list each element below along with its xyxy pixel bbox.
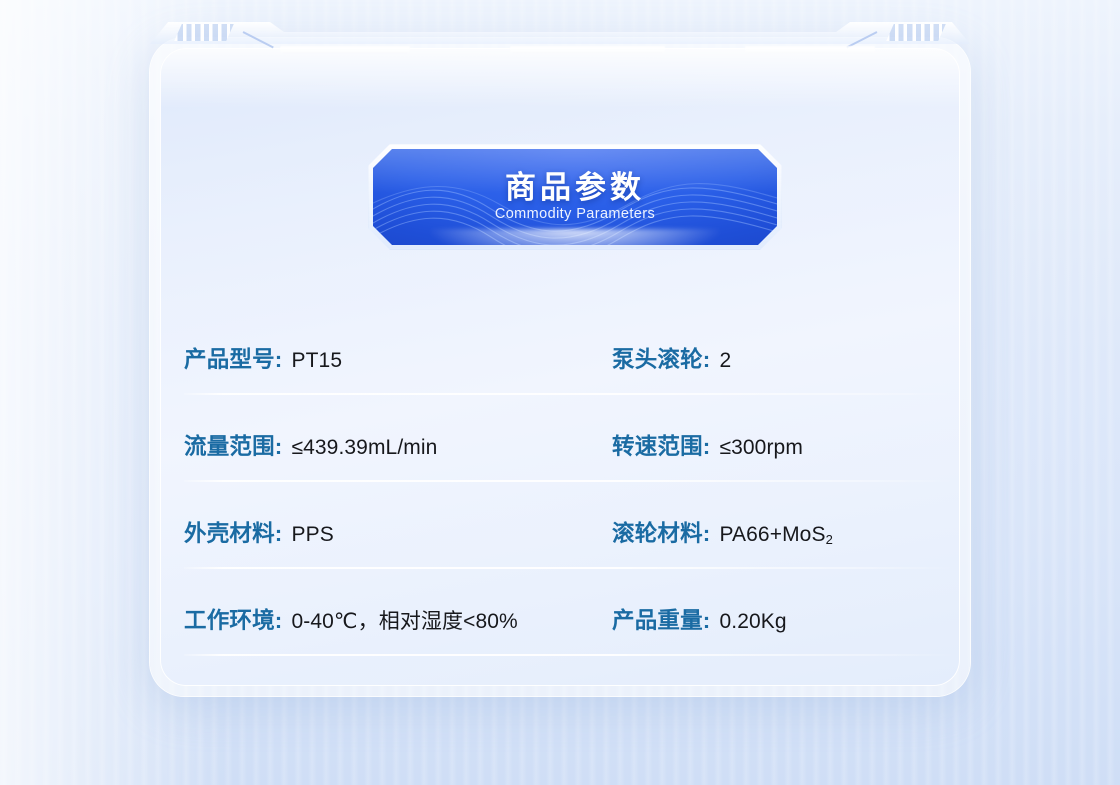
row-divider [184, 654, 956, 656]
param-value: PT15 [292, 349, 343, 373]
param-label: 产品型号: [184, 342, 283, 374]
banner-title-cn: 商品参数 [505, 171, 645, 205]
param-cell-roller-material: 滚轮材料: PA66+MoS2 [612, 516, 956, 569]
param-cell-product-weight: 产品重量: 0.20Kg [612, 603, 956, 656]
param-value: PA66+MoS2 [720, 523, 833, 547]
param-cell-product-model: 产品型号: PT15 [184, 342, 612, 395]
param-label: 流量范围: [184, 429, 283, 461]
param-value-text: PA66+MoS [720, 523, 826, 546]
table-row: 产品型号: PT15 泵头滚轮: 2 [184, 308, 956, 395]
table-row: 外壳材料: PPS 滚轮材料: PA66+MoS2 [184, 482, 956, 569]
param-value: ≤439.39mL/min [292, 436, 438, 460]
banner-title-en: Commodity Parameters [495, 207, 655, 223]
param-label: 滚轮材料: [612, 516, 711, 548]
param-label: 泵头滚轮: [612, 342, 711, 374]
param-value: ≤300rpm [720, 436, 803, 460]
param-label: 产品重量: [612, 603, 711, 635]
param-label: 工作环境: [184, 603, 283, 635]
section-title-banner: 商品参数 Commodity Parameters [368, 144, 782, 250]
param-value: PPS [292, 523, 334, 547]
banner-bottom-glow [430, 229, 721, 245]
param-value: 2 [720, 349, 732, 373]
param-value: 0.20Kg [720, 610, 787, 634]
param-cell-pump-head-rollers: 泵头滚轮: 2 [612, 342, 956, 395]
parameters-card: 商品参数 Commodity Parameters 产品型号: PT15 泵头滚… [150, 38, 970, 696]
param-cell-flow-range: 流量范围: ≤439.39mL/min [184, 429, 612, 482]
param-value: 0-40℃，相对湿度<80% [292, 605, 518, 635]
param-cell-housing-material: 外壳材料: PPS [184, 516, 612, 569]
param-value-subscript: 2 [826, 532, 833, 547]
param-cell-working-environment: 工作环境: 0-40℃，相对湿度<80% [184, 603, 612, 656]
table-row: 流量范围: ≤439.39mL/min 转速范围: ≤300rpm [184, 395, 956, 482]
param-cell-speed-range: 转速范围: ≤300rpm [612, 429, 956, 482]
product-parameters-page: 商品参数 Commodity Parameters 产品型号: PT15 泵头滚… [0, 0, 1120, 785]
param-label: 外壳材料: [184, 516, 283, 548]
card-top-gloss [160, 48, 960, 108]
table-row: 工作环境: 0-40℃，相对湿度<80% 产品重量: 0.20Kg [184, 569, 956, 656]
parameters-table: 产品型号: PT15 泵头滚轮: 2 流量范围: ≤439.39mL/min [184, 308, 956, 656]
param-label: 转速范围: [612, 429, 711, 461]
banner-body: 商品参数 Commodity Parameters [373, 149, 777, 245]
parameters-card-inner: 商品参数 Commodity Parameters 产品型号: PT15 泵头滚… [160, 48, 960, 686]
